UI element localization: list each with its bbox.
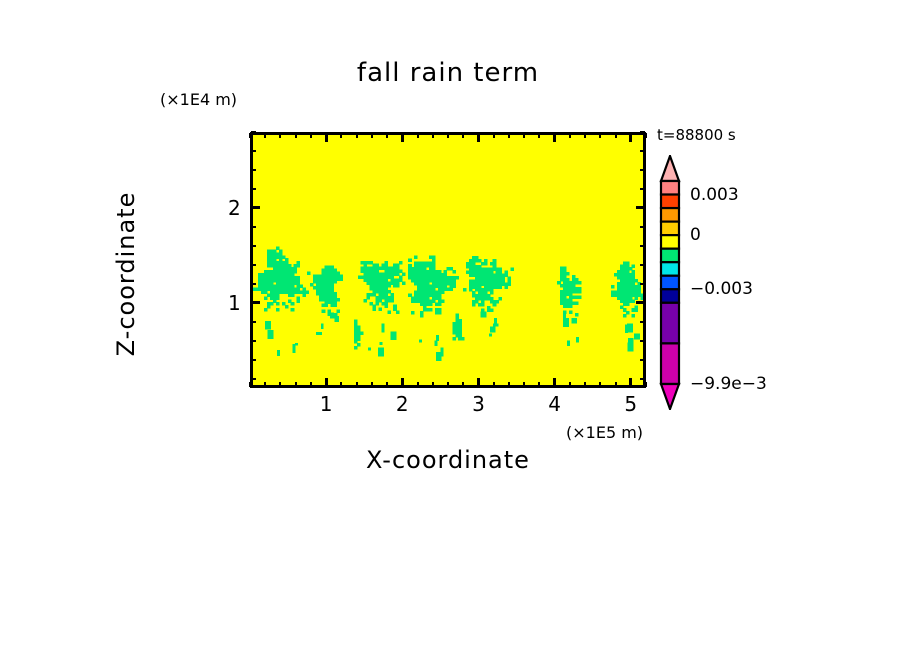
x-axis-unit-label: (×1E5 m): [566, 423, 643, 442]
figure-root: fall rain term (×1E4 m) t=88800 s 123451…: [0, 0, 904, 654]
x-tick-top: [553, 133, 556, 142]
x-tick-label: 5: [624, 392, 637, 416]
y-tick-label: 2: [228, 196, 241, 220]
x-tick-top: [462, 133, 464, 138]
x-tick-top: [599, 133, 601, 138]
y-tick-right: [640, 169, 645, 171]
x-tick-top: [645, 133, 647, 138]
x-tick-bottom: [493, 382, 495, 387]
y-axis-title: Z-coordinate: [112, 144, 140, 404]
x-tick-top: [629, 133, 632, 142]
page-title: fall rain term: [250, 58, 646, 88]
x-tick-top: [493, 133, 495, 138]
y-tick-left: [251, 188, 256, 190]
y-tick-right: [640, 226, 645, 228]
y-tick-right: [640, 378, 645, 380]
x-tick-bottom: [447, 382, 449, 387]
x-tick-bottom: [584, 382, 586, 387]
colorbar-band-yellow: [661, 235, 679, 249]
x-tick-bottom: [538, 382, 540, 387]
y-tick-right: [640, 283, 645, 285]
x-tick-bottom: [371, 382, 373, 387]
x-tick-top: [310, 133, 312, 138]
colorbar-band-blue: [661, 276, 679, 290]
y-tick-left: [251, 206, 260, 209]
colorbar-band-purple: [661, 303, 679, 344]
x-tick-label: 4: [548, 392, 561, 416]
y-tick-right: [636, 301, 645, 304]
x-tick-bottom: [462, 382, 464, 387]
y-tick-right: [640, 150, 645, 152]
y-tick-right: [636, 206, 645, 209]
y-tick-right: [640, 264, 645, 266]
x-tick-top: [356, 133, 358, 138]
y-tick-right: [640, 245, 645, 247]
x-tick-top: [249, 133, 251, 138]
background-field: [253, 135, 643, 385]
x-tick-top: [584, 133, 586, 138]
x-tick-top: [432, 133, 434, 138]
x-tick-bottom: [401, 378, 404, 387]
x-tick-top: [325, 133, 328, 142]
x-tick-bottom: [645, 382, 647, 387]
y-tick-left: [251, 264, 256, 266]
x-tick-top: [295, 133, 297, 138]
x-tick-top: [401, 133, 404, 142]
x-axis-title: X-coordinate: [250, 446, 646, 474]
y-tick-left: [251, 169, 256, 171]
colorbar-swatches: [655, 155, 695, 410]
plot-area: [250, 132, 646, 388]
y-tick-left: [251, 245, 256, 247]
x-tick-bottom: [325, 378, 328, 387]
x-tick-top: [417, 133, 419, 138]
x-tick-bottom: [432, 382, 434, 387]
y-tick-label: 1: [228, 291, 241, 315]
colorbar-band-orange-red: [661, 195, 679, 209]
x-tick-top: [615, 133, 617, 138]
x-tick-bottom: [599, 382, 601, 387]
colorbar-band-amber: [661, 222, 679, 236]
x-tick-bottom: [264, 382, 266, 387]
x-tick-bottom: [295, 382, 297, 387]
y-tick-right: [640, 131, 645, 133]
x-tick-bottom: [523, 382, 525, 387]
x-tick-bottom: [356, 382, 358, 387]
x-tick-top: [371, 133, 373, 138]
x-tick-label: 3: [472, 392, 485, 416]
x-tick-top: [447, 133, 449, 138]
x-tick-label: 1: [320, 392, 333, 416]
y-tick-right: [640, 340, 645, 342]
x-tick-bottom: [629, 378, 632, 387]
x-tick-bottom: [477, 378, 480, 387]
x-tick-top: [508, 133, 510, 138]
colorbar-band-cyan: [661, 262, 679, 276]
x-tick-top: [279, 133, 281, 138]
y-axis-unit-label: (×1E4 m): [160, 90, 237, 109]
x-tick-bottom: [340, 382, 342, 387]
colorbar-tick-label: −9.9e−3: [690, 374, 767, 394]
colorbar-band-orange: [661, 208, 679, 222]
timestamp-label: t=88800 s: [657, 126, 736, 144]
colorbar-band-navy: [661, 289, 679, 303]
y-tick-left: [251, 131, 256, 133]
x-tick-bottom: [279, 382, 281, 387]
x-tick-bottom: [508, 382, 510, 387]
y-tick-left: [251, 321, 256, 323]
y-tick-left: [251, 359, 256, 361]
x-tick-top: [386, 133, 388, 138]
x-tick-top: [264, 133, 266, 138]
y-tick-left: [251, 150, 256, 152]
y-tick-left: [251, 340, 256, 342]
y-tick-right: [640, 359, 645, 361]
x-tick-bottom: [310, 382, 312, 387]
x-tick-bottom: [417, 382, 419, 387]
colorbar-band-green: [661, 249, 679, 263]
x-tick-top: [538, 133, 540, 138]
x-tick-bottom: [553, 378, 556, 387]
x-tick-bottom: [615, 382, 617, 387]
colorbar-tick-label: 0: [690, 225, 701, 245]
y-tick-left: [251, 283, 256, 285]
colorbar-bottom-arrow: [661, 384, 679, 409]
x-tick-bottom: [386, 382, 388, 387]
colorbar-band-magenta: [661, 343, 679, 384]
x-tick-top: [523, 133, 525, 138]
x-tick-bottom: [569, 382, 571, 387]
y-tick-left: [251, 226, 256, 228]
x-tick-top: [340, 133, 342, 138]
y-tick-right: [640, 321, 645, 323]
colorbar-tick-label: 0.003: [690, 185, 739, 205]
y-tick-left: [251, 378, 256, 380]
x-tick-bottom: [249, 382, 251, 387]
contour-field: [253, 135, 643, 385]
x-tick-top: [477, 133, 480, 142]
x-tick-label: 2: [396, 392, 409, 416]
x-tick-top: [569, 133, 571, 138]
colorbar-band-salmon: [661, 181, 679, 195]
colorbar: [655, 155, 695, 410]
y-tick-right: [640, 188, 645, 190]
colorbar-top-arrow: [661, 156, 679, 181]
y-tick-left: [251, 301, 260, 304]
colorbar-tick-label: −0.003: [690, 279, 753, 299]
